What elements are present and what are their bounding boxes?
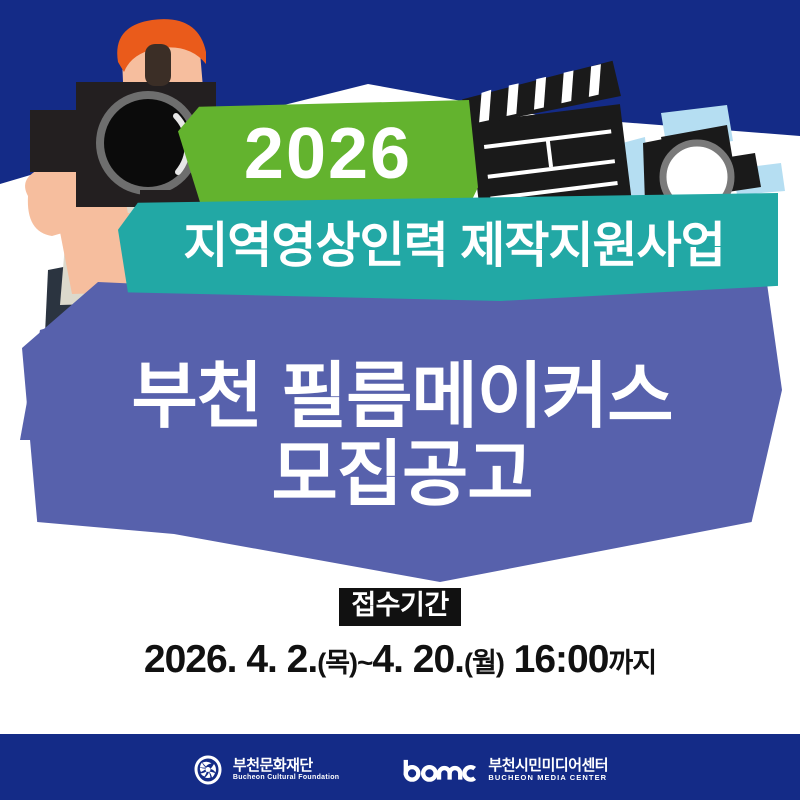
camera-side-nub — [30, 110, 78, 172]
deadline-time: 16:00 — [514, 638, 609, 682]
title-line-2: 모집공고 — [272, 437, 533, 513]
end-date: 4. 20. — [372, 638, 464, 682]
range-mark: ~ — [357, 647, 372, 679]
bomc-name-kr: 부천시민미디어센터 — [488, 758, 608, 774]
bcf-logo-text: 부천문화재단 Bucheon Cultural Foundation — [233, 758, 339, 781]
year-banner: 2026 — [178, 100, 478, 212]
start-day: (목) — [317, 641, 357, 680]
bomc-name-en: BUCHEON MEDIA CENTER — [488, 774, 608, 782]
camera-microphone — [145, 44, 171, 86]
bucheon-cultural-foundation-emblem-icon — [192, 754, 224, 786]
year-text: 2026 — [244, 118, 412, 190]
period-badge: 접수기간 — [339, 588, 460, 626]
bcf-name-en: Bucheon Cultural Foundation — [233, 774, 339, 781]
subtitle-text: 지역영상인력 제작지원사업 — [183, 222, 725, 271]
period-date-line: 2026. 4. 2.(목)~4. 20.(월) 16:00까지 — [144, 638, 656, 682]
end-day: (월) — [464, 641, 504, 680]
poster-canvas: 2026 지역영상인력 제작지원사업 부천 필름메이커스 모집공고 접수기간 2… — [0, 0, 800, 800]
bomc-logo-text: 부천시민미디어센터 BUCHEON MEDIA CENTER — [488, 758, 608, 782]
title-banner: 부천 필름메이커스 모집공고 — [22, 282, 782, 582]
application-period: 접수기간 2026. 4. 2.(목)~4. 20.(월) 16:00까지 — [0, 588, 800, 682]
footer-logos: 부천문화재단 Bucheon Cultural Foundation 부천시민미… — [0, 754, 800, 786]
logo-bucheon-media-center: 부천시민미디어센터 BUCHEON MEDIA CENTER — [401, 757, 608, 783]
bomc-wordmark-icon — [401, 757, 479, 783]
logo-bucheon-cultural-foundation: 부천문화재단 Bucheon Cultural Foundation — [192, 754, 339, 786]
bcf-name-kr: 부천문화재단 — [233, 758, 339, 774]
title-line-1: 부천 필름메이커스 — [132, 359, 673, 435]
start-date: 2026. 4. 2. — [144, 638, 317, 682]
deadline-suffix: 까지 — [608, 641, 656, 680]
